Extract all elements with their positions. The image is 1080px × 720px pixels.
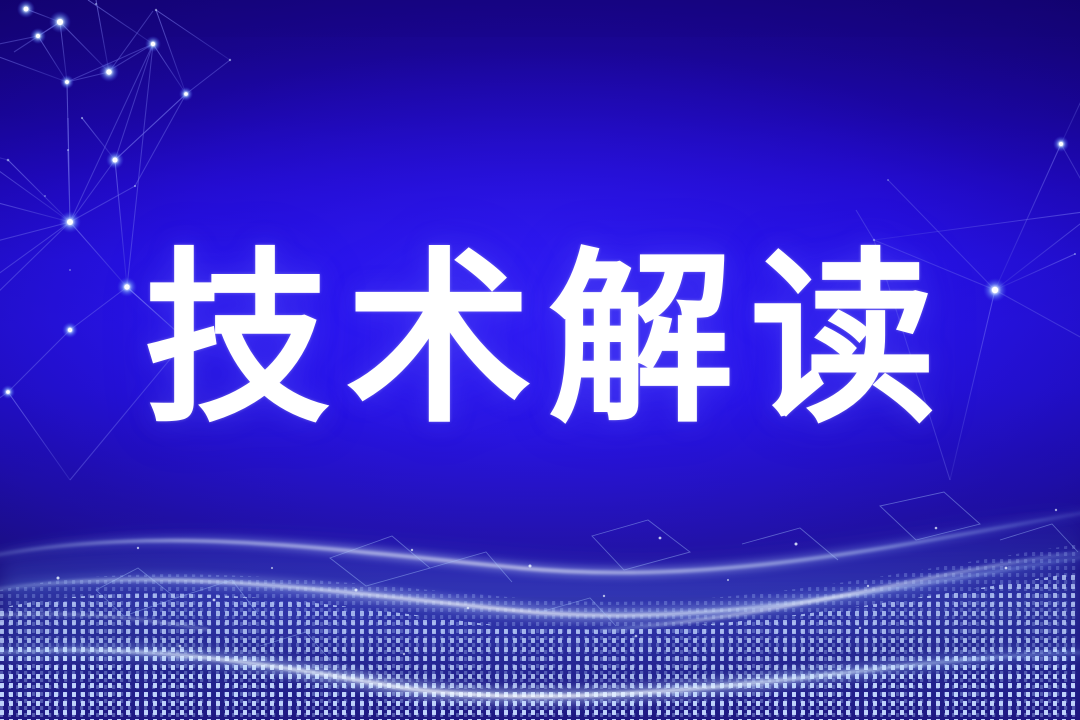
banner-canvas: 技术解读 <box>0 0 1080 720</box>
page-title: 技术解读 <box>0 247 1080 433</box>
particle-wave-field <box>0 440 1080 720</box>
